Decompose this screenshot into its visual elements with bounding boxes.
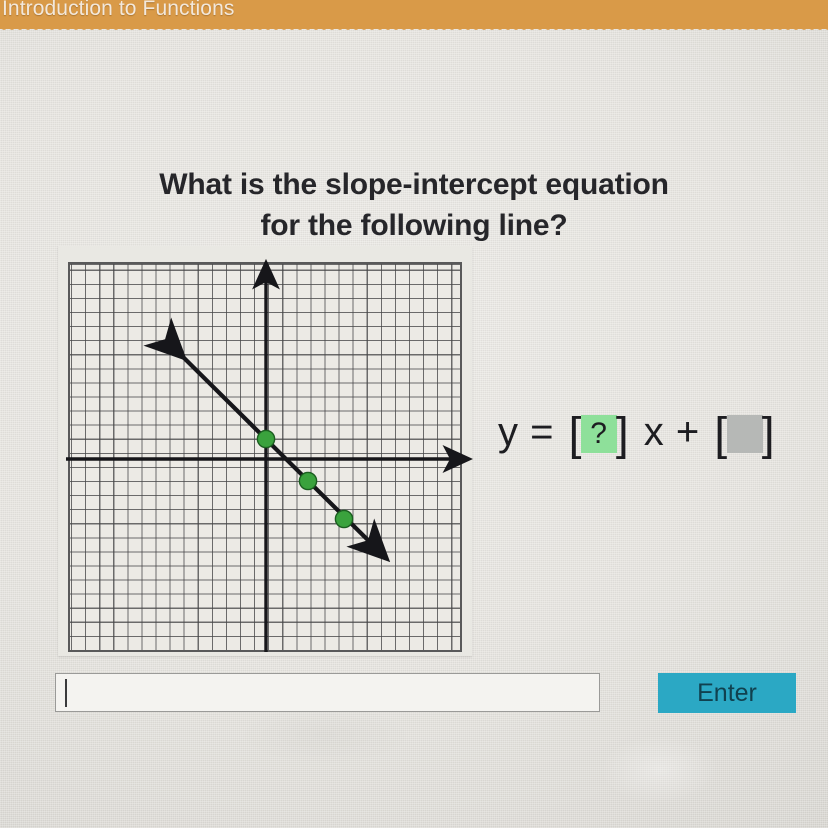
intercept-answer-box[interactable] bbox=[727, 415, 763, 453]
header-scallop-edge bbox=[0, 27, 828, 34]
plot-point bbox=[335, 510, 352, 527]
slope-answer-slot[interactable]: [?] bbox=[566, 409, 633, 455]
equation-variable: x bbox=[644, 410, 665, 455]
intercept-answer-slot[interactable]: [] bbox=[711, 409, 778, 455]
plotted-line bbox=[180, 354, 383, 555]
equation-display: y = [?] x + [] bbox=[498, 408, 778, 456]
question-line-2: for the following line? bbox=[0, 205, 828, 246]
intercept-bracket-open: [ bbox=[714, 408, 727, 460]
equation-plus: + bbox=[676, 410, 700, 455]
enter-button[interactable]: Enter bbox=[658, 673, 796, 713]
intercept-bracket-close: ] bbox=[762, 408, 775, 460]
slope-bracket-open: [ bbox=[569, 408, 582, 460]
graph-figure bbox=[58, 246, 472, 656]
page-title: Introduction to Functions bbox=[2, 0, 234, 21]
slope-answer-box[interactable]: ? bbox=[581, 415, 617, 453]
equation-equals: = bbox=[530, 410, 554, 455]
slope-bracket-close: ] bbox=[616, 408, 629, 460]
question-line-1: What is the slope-intercept equation bbox=[0, 164, 828, 205]
equation-lhs: y bbox=[498, 410, 519, 455]
app-header-bar: Introduction to Functions bbox=[0, 0, 828, 29]
plot-point bbox=[299, 472, 316, 489]
plot-point bbox=[257, 430, 274, 447]
question-text: What is the slope-intercept equation for… bbox=[0, 164, 828, 246]
text-caret bbox=[65, 679, 67, 707]
answer-input[interactable] bbox=[55, 673, 600, 712]
